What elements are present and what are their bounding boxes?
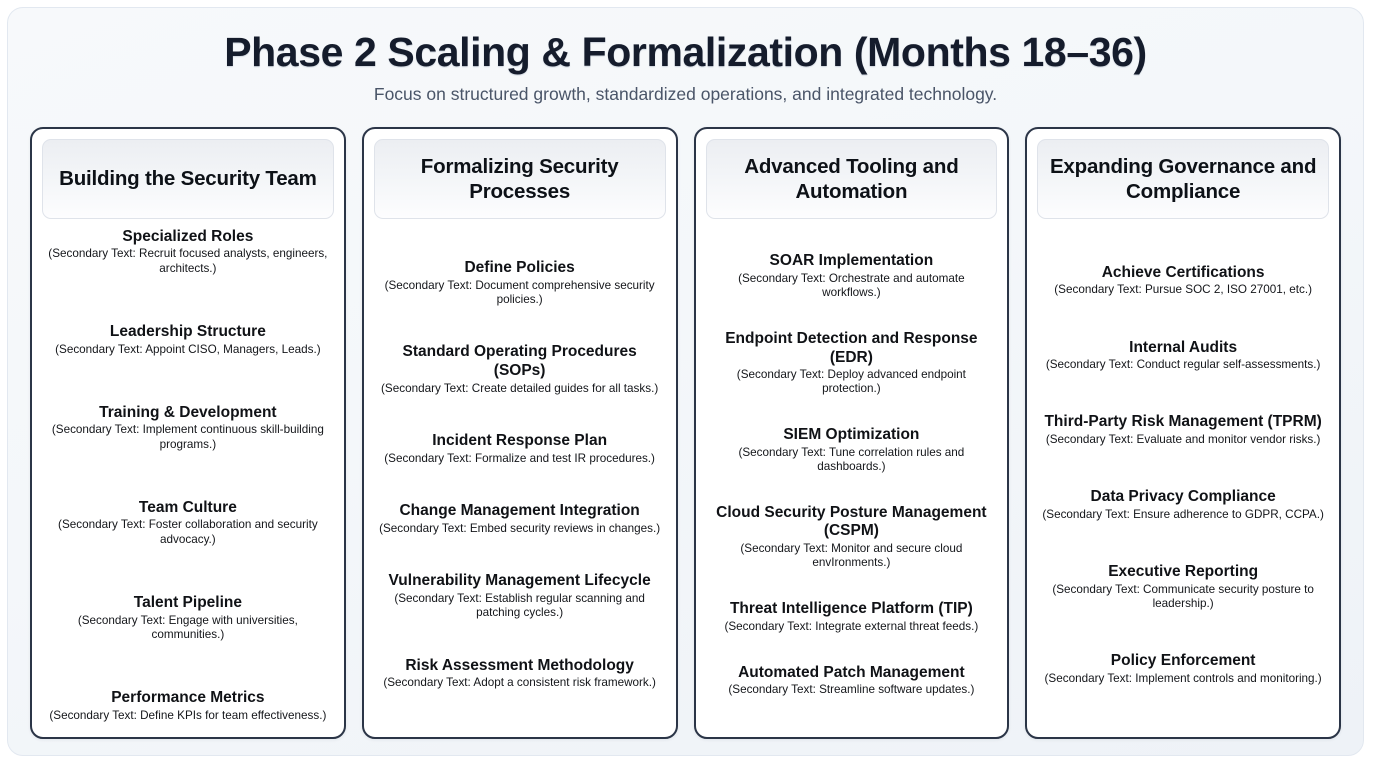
item-title: Cloud Security Posture Management (CSPM) xyxy=(710,504,994,541)
item-secondary-text: (Secondary Text: Foster collaboration an… xyxy=(46,518,330,547)
item-secondary-text: (Secondary Text: Establish regular scann… xyxy=(378,592,662,621)
list-item[interactable]: Internal Audits (Secondary Text: Conduct… xyxy=(1039,339,1327,373)
list-item[interactable]: Automated Patch Management (Secondary Te… xyxy=(708,664,996,698)
phase-roadmap-panel: Phase 2 Scaling & Formalization (Months … xyxy=(7,7,1364,756)
list-item[interactable]: Cloud Security Posture Management (CSPM)… xyxy=(708,504,996,571)
column-card-formalizing-security-processes: Formalizing Security Processes Define Po… xyxy=(362,127,678,739)
item-title: Leadership Structure xyxy=(46,323,330,342)
item-secondary-text: (Secondary Text: Implement controls and … xyxy=(1041,672,1325,686)
item-title: Risk Assessment Methodology xyxy=(378,657,662,676)
list-item[interactable]: Performance Metrics (Secondary Text: Def… xyxy=(44,689,332,723)
column-header-1: Building the Security Team xyxy=(42,139,334,219)
item-secondary-text: (Secondary Text: Define KPIs for team ef… xyxy=(46,709,330,723)
item-title: Define Policies xyxy=(378,259,662,278)
item-title: Third-Party Risk Management (TPRM) xyxy=(1041,413,1325,432)
column-heading-label: Advanced Tooling and Automation xyxy=(717,154,987,204)
column-heading-label: Formalizing Security Processes xyxy=(385,154,655,204)
item-title: Threat Intelligence Platform (TIP) xyxy=(710,600,994,619)
item-title: Team Culture xyxy=(46,499,330,518)
list-item[interactable]: SIEM Optimization (Secondary Text: Tune … xyxy=(708,426,996,474)
item-secondary-text: (Secondary Text: Create detailed guides … xyxy=(378,382,662,396)
item-secondary-text: (Secondary Text: Evaluate and monitor ve… xyxy=(1041,433,1325,447)
column-card-advanced-tooling-and-automation: Advanced Tooling and Automation SOAR Imp… xyxy=(694,127,1010,739)
item-secondary-text: (Secondary Text: Integrate external thre… xyxy=(710,620,994,634)
item-secondary-text: (Secondary Text: Appoint CISO, Managers,… xyxy=(46,343,330,357)
item-secondary-text: (Secondary Text: Engage with universitie… xyxy=(46,614,330,643)
item-secondary-text: (Secondary Text: Formalize and test IR p… xyxy=(378,452,662,466)
panel-header: Phase 2 Scaling & Formalization (Months … xyxy=(30,30,1341,112)
item-secondary-text: (Secondary Text: Streamline software upd… xyxy=(710,683,994,697)
list-item[interactable]: Change Management Integration (Secondary… xyxy=(376,502,664,536)
columns-container: Building the Security Team Specialized R… xyxy=(30,127,1341,739)
item-title: Executive Reporting xyxy=(1041,563,1325,582)
column-header-4: Expanding Governance and Compliance xyxy=(1037,139,1329,219)
column-header-3: Advanced Tooling and Automation xyxy=(706,139,998,219)
list-item[interactable]: Endpoint Detection and Response (EDR) (S… xyxy=(708,330,996,397)
item-secondary-text: (Secondary Text: Implement continuous sk… xyxy=(46,423,330,452)
list-item[interactable]: Policy Enforcement (Secondary Text: Impl… xyxy=(1039,652,1327,686)
item-title: Data Privacy Compliance xyxy=(1041,488,1325,507)
list-item[interactable]: Executive Reporting (Secondary Text: Com… xyxy=(1039,563,1327,611)
list-item[interactable]: Specialized Roles (Secondary Text: Recru… xyxy=(44,228,332,276)
item-secondary-text: (Secondary Text: Communicate security po… xyxy=(1041,583,1325,612)
list-item[interactable]: Training & Development (Secondary Text: … xyxy=(44,404,332,452)
item-title: Achieve Certifications xyxy=(1041,264,1325,283)
list-item[interactable]: Incident Response Plan (Secondary Text: … xyxy=(376,432,664,466)
item-secondary-text: (Secondary Text: Tune correlation rules … xyxy=(710,446,994,475)
item-secondary-text: (Secondary Text: Document comprehensive … xyxy=(378,279,662,308)
item-secondary-text: (Secondary Text: Conduct regular self-as… xyxy=(1041,358,1325,372)
list-item[interactable]: Third-Party Risk Management (TPRM) (Seco… xyxy=(1039,413,1327,447)
column-card-building-the-security-team: Building the Security Team Specialized R… xyxy=(30,127,346,739)
item-title: Change Management Integration xyxy=(378,502,662,521)
item-title: Standard Operating Procedures (SOPs) xyxy=(378,343,662,380)
item-title: Internal Audits xyxy=(1041,339,1325,358)
list-item[interactable]: Data Privacy Compliance (Secondary Text:… xyxy=(1039,488,1327,522)
item-secondary-text: (Secondary Text: Pursue SOC 2, ISO 27001… xyxy=(1041,283,1325,297)
item-title: Incident Response Plan xyxy=(378,432,662,451)
item-title: Policy Enforcement xyxy=(1041,652,1325,671)
column-body-4: Achieve Certifications (Secondary Text: … xyxy=(1037,219,1329,729)
list-item[interactable]: Leadership Structure (Secondary Text: Ap… xyxy=(44,323,332,357)
column-heading-label: Expanding Governance and Compliance xyxy=(1048,154,1318,204)
item-secondary-text: (Secondary Text: Embed security reviews … xyxy=(378,522,662,536)
item-title: Vulnerability Management Lifecycle xyxy=(378,572,662,591)
list-item[interactable]: Vulnerability Management Lifecycle (Seco… xyxy=(376,572,664,620)
list-item[interactable]: Risk Assessment Methodology (Secondary T… xyxy=(376,657,664,691)
column-header-2: Formalizing Security Processes xyxy=(374,139,666,219)
column-card-expanding-governance-and-compliance: Expanding Governance and Compliance Achi… xyxy=(1025,127,1341,739)
item-secondary-text: (Secondary Text: Deploy advanced endpoin… xyxy=(710,368,994,397)
column-body-1: Specialized Roles (Secondary Text: Recru… xyxy=(42,219,334,729)
item-title: Specialized Roles xyxy=(46,228,330,247)
item-secondary-text: (Secondary Text: Recruit focused analyst… xyxy=(46,247,330,276)
list-item[interactable]: Achieve Certifications (Secondary Text: … xyxy=(1039,264,1327,298)
item-title: Endpoint Detection and Response (EDR) xyxy=(710,330,994,367)
list-item[interactable]: Team Culture (Secondary Text: Foster col… xyxy=(44,499,332,547)
item-secondary-text: (Secondary Text: Orchestrate and automat… xyxy=(710,272,994,301)
column-body-2: Define Policies (Secondary Text: Documen… xyxy=(374,219,666,729)
list-item[interactable]: Threat Intelligence Platform (TIP) (Seco… xyxy=(708,600,996,634)
list-item[interactable]: SOAR Implementation (Secondary Text: Orc… xyxy=(708,252,996,300)
list-item[interactable]: Talent Pipeline (Secondary Text: Engage … xyxy=(44,594,332,642)
item-secondary-text: (Secondary Text: Monitor and secure clou… xyxy=(710,542,994,571)
item-title: Talent Pipeline xyxy=(46,594,330,613)
list-item[interactable]: Define Policies (Secondary Text: Documen… xyxy=(376,259,664,307)
column-body-3: SOAR Implementation (Secondary Text: Orc… xyxy=(706,219,998,729)
item-title: Performance Metrics xyxy=(46,689,330,708)
item-title: SOAR Implementation xyxy=(710,252,994,271)
item-title: Training & Development xyxy=(46,404,330,423)
list-item[interactable]: Standard Operating Procedures (SOPs) (Se… xyxy=(376,343,664,395)
page-title: Phase 2 Scaling & Formalization (Months … xyxy=(30,30,1341,76)
item-title: Automated Patch Management xyxy=(710,664,994,683)
item-secondary-text: (Secondary Text: Adopt a consistent risk… xyxy=(378,676,662,690)
screenshot-root: Phase 2 Scaling & Formalization (Months … xyxy=(0,0,1376,768)
item-title: SIEM Optimization xyxy=(710,426,994,445)
column-heading-label: Building the Security Team xyxy=(59,166,317,191)
item-secondary-text: (Secondary Text: Ensure adherence to GDP… xyxy=(1041,508,1325,522)
page-subtitle: Focus on structured growth, standardized… xyxy=(30,84,1341,106)
